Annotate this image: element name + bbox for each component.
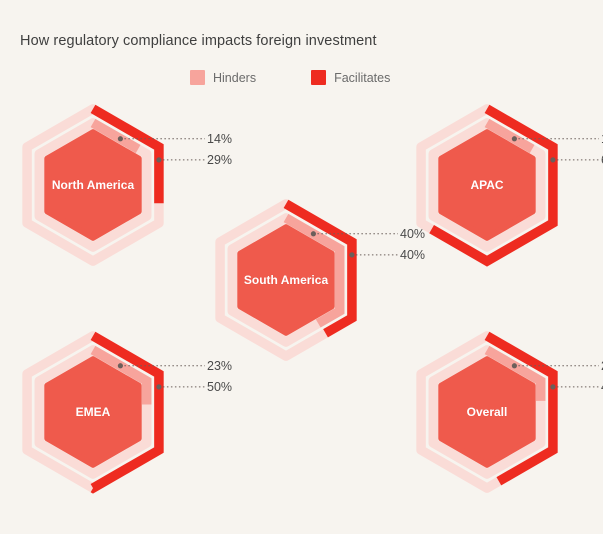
hex-core (47, 132, 138, 238)
hex-panel-apac[interactable]: APAC14%64% (365, 63, 603, 307)
hex-chart-emea (0, 290, 215, 534)
page-title: How regulatory compliance impacts foreig… (20, 33, 377, 49)
hex-core (240, 227, 331, 333)
hex-panel-overall[interactable]: Overall22%47% (365, 290, 603, 534)
hex-core (441, 359, 532, 465)
marker-dot-hinders (512, 363, 517, 368)
value-label-facilitates: 50% (207, 380, 232, 394)
marker-dot-hinders (512, 136, 517, 141)
hex-panel-emea[interactable]: EMEA23%50% (0, 290, 215, 534)
hex-core (441, 132, 532, 238)
hex-chart-apac (365, 63, 603, 307)
marker-dot-facilitates (349, 252, 354, 257)
legend: Hinders Facilitates (190, 70, 390, 85)
hex-chart-overall (365, 290, 603, 534)
value-label-hinders: 14% (207, 132, 232, 146)
legend-label-hinders: Hinders (213, 71, 256, 85)
legend-swatch-facilitates (311, 70, 326, 85)
marker-dot-facilitates (550, 384, 555, 389)
value-label-hinders: 23% (207, 359, 232, 373)
marker-dot-hinders (311, 231, 316, 236)
marker-dot-facilitates (156, 157, 161, 162)
marker-dot-hinders (118, 363, 123, 368)
marker-dot-facilitates (156, 384, 161, 389)
hex-core (47, 359, 138, 465)
marker-dot-facilitates (550, 157, 555, 162)
marker-dot-hinders (118, 136, 123, 141)
infographic-root: How regulatory compliance impacts foreig… (0, 0, 603, 519)
